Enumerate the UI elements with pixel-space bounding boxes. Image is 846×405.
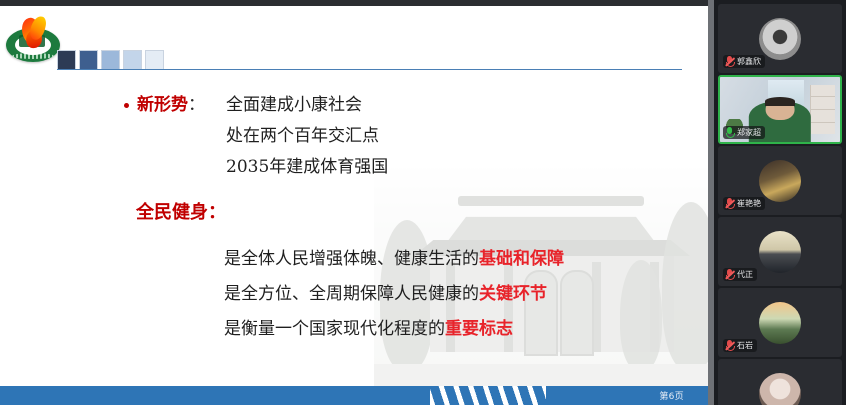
detail-line-3-highlight: 重要标志 [445,319,513,339]
detail-line-1: 是全体人民增强体魄、健康生活的基础和保障 [224,242,564,277]
bullet-colon: ： [188,90,205,120]
participant-video-panel: 郭鑫欣 郑家超 崔艳艳 [714,0,846,405]
woman-flowers-avatar [759,160,801,202]
bullet-line-1: 全面建成小康社会 [226,90,388,121]
bullet-lines: 全面建成小康社会 处在两个百年交汇点 2035年建成体育强国 [226,90,388,183]
bullet-line-2: 处在两个百年交汇点 [226,121,388,152]
detail-line-3-text: 是衡量一个国家现代化程度的 [224,319,445,339]
mic-muted-icon [725,198,734,209]
section-title: 全民健身： [136,198,226,224]
participant-name-2: 郑家超 [737,127,761,138]
detail-line-2: 是全方位、全周期保障人民健康的关键环节 [224,277,564,312]
participant-name-3: 崔艳艳 [737,198,761,209]
camera-photo-avatar [759,18,801,60]
bullet-heading: 新形势： [124,90,205,120]
participant-name-chip-3: 崔艳艳 [723,197,765,210]
detail-line-2-highlight: 关键环节 [479,284,547,304]
participant-tile-4[interactable]: 代正 [718,217,842,286]
participant-name-chip-5: 石岩 [723,339,757,352]
detail-line-3: 是衡量一个国家现代化程度的重要标志 [224,312,564,347]
participant-name-1: 郭鑫欣 [737,56,761,67]
portrait-avatar [759,373,801,405]
participant-name-4: 代正 [737,269,753,280]
participant-tile-2-active-speaker[interactable]: 郑家超 [718,75,842,144]
meeting-screen-share-view: 新形势： 全面建成小康社会 处在两个百年交汇点 2035年建成体育强国 全民健身… [0,0,846,405]
participant-tile-6[interactable]: 杨卓然 [718,359,842,405]
slide-page-number: 第6页 [659,389,684,402]
participant-tile-1[interactable]: 郭鑫欣 [718,4,842,73]
shared-slide: 新形势： 全面建成小康社会 处在两个百年交汇点 2035年建成体育强国 全民健身… [0,6,708,405]
participant-name-5: 石岩 [737,340,753,351]
bullet-dot-icon [124,103,129,108]
landscape-avatar [759,302,801,344]
bullet-label: 新形势 [137,90,188,120]
participant-name-chip-4: 代正 [723,268,757,281]
detail-line-1-highlight: 基础和保障 [479,249,564,269]
mic-muted-icon [725,56,734,67]
participant-tile-3[interactable]: 崔艳艳 [718,146,842,215]
footer-stripe-decor [430,386,546,405]
mic-muted-icon [725,269,734,280]
bullet-line-3: 2035年建成体育强国 [226,152,388,183]
slide-footer-bar: 第6页 [0,386,708,405]
participant-name-chip-1: 郭鑫欣 [723,55,765,68]
city-bridge-avatar [759,231,801,273]
participant-tile-5[interactable]: 石岩 [718,288,842,357]
detail-line-1-text: 是全体人民增强体魄、健康生活的 [224,249,479,269]
mic-active-icon [725,127,734,138]
participant-name-chip-2: 郑家超 [723,126,765,139]
detail-lines: 是全体人民增强体魄、健康生活的基础和保障 是全方位、全周期保障人民健康的关键环节… [224,242,564,347]
mic-muted-icon [725,340,734,351]
detail-line-2-text: 是全方位、全周期保障人民健康的 [224,284,479,304]
